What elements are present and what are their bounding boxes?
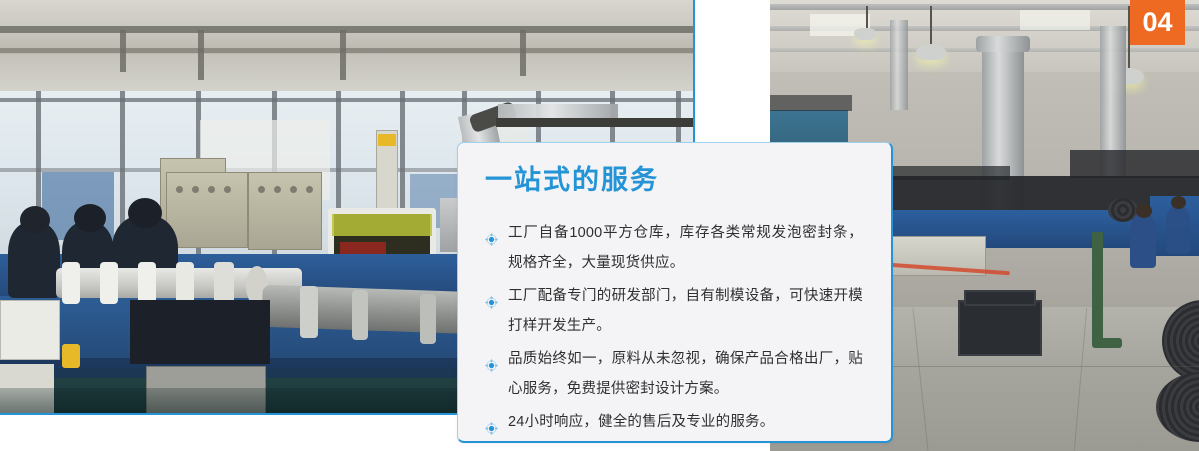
step-number-badge: 04 (1130, 0, 1185, 45)
service-bullet-list: 工厂自备1000平方仓库，库存各类常规发泡密封条，规格齐全，大量现货供应。 工厂… (485, 218, 863, 437)
list-item: 品质始终如一，原料从未忽视，确保产品合格出厂，贴心服务，免费提供密封设计方案。 (485, 344, 863, 404)
list-item: 24小时响应，健全的售后及专业的服务。 (485, 407, 863, 437)
promo-banner: 04 一站式的服务 工厂自备1000平方仓库，库存各类常规发泡密封条，规格齐全，… (0, 0, 1199, 451)
diamond-target-icon (485, 353, 498, 366)
service-card: 一站式的服务 工厂自备1000平方仓库，库存各类常规发泡密封条，规格齐全，大量现… (457, 142, 893, 443)
diamond-target-icon (485, 227, 498, 240)
list-item-text: 工厂自备1000平方仓库，库存各类常规发泡密封条，规格齐全，大量现货供应。 (508, 225, 863, 271)
list-item-text: 品质始终如一，原料从未忽视，确保产品合格出厂，贴心服务，免费提供密封设计方案。 (508, 351, 863, 397)
list-item: 工厂配备专门的研发部门，自有制模设备，可快速开模打样开发生产。 (485, 281, 863, 341)
card-title: 一站式的服务 (485, 166, 863, 196)
list-item: 工厂自备1000平方仓库，库存各类常规发泡密封条，规格齐全，大量现货供应。 (485, 218, 863, 278)
step-number-text: 04 (1142, 9, 1172, 36)
diamond-target-icon (485, 416, 498, 429)
list-item-text: 工厂配备专门的研发部门，自有制模设备，可快速开模打样开发生产。 (508, 288, 863, 334)
diamond-target-icon (485, 290, 498, 303)
list-item-text: 24小时响应，健全的售后及专业的服务。 (508, 414, 774, 430)
